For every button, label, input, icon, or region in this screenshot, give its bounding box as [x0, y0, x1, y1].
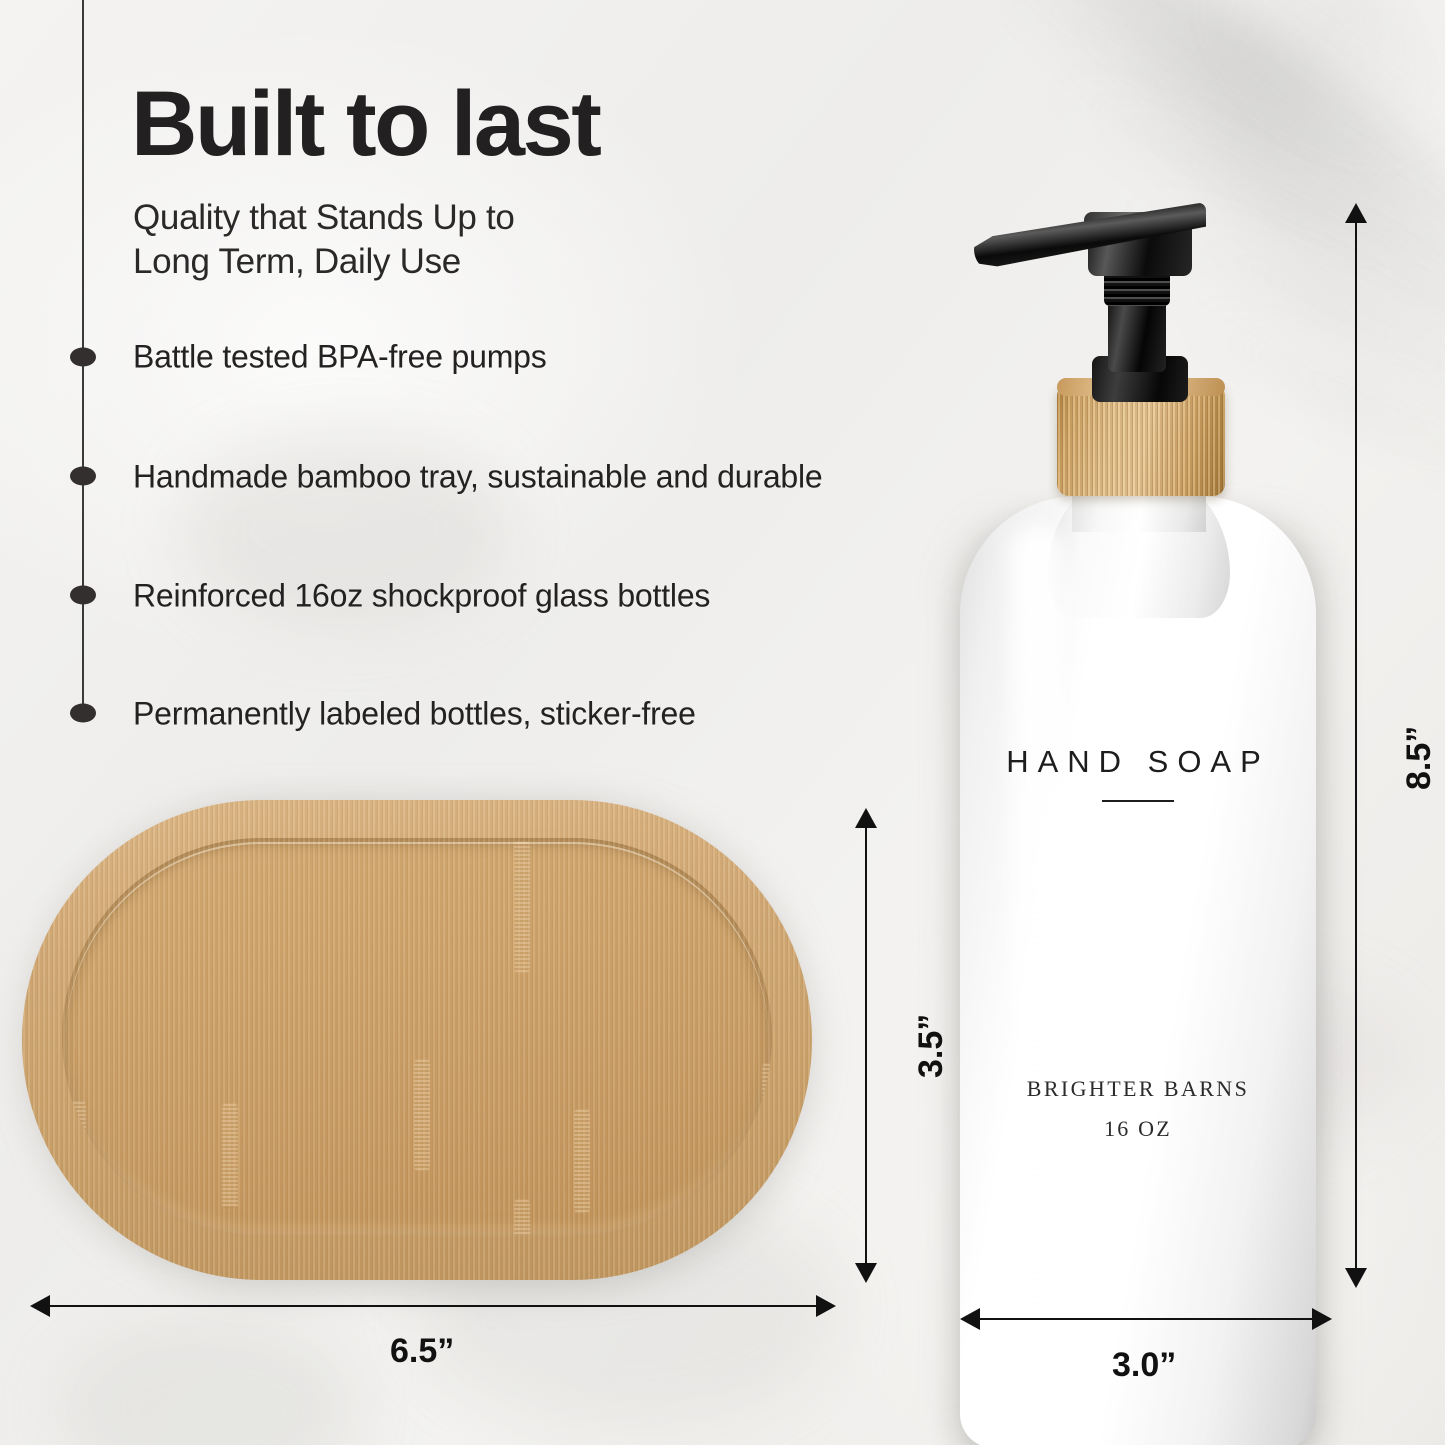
bottle-volume: 16 OZ [952, 1116, 1324, 1142]
dimension-arrowhead-right [1312, 1308, 1332, 1330]
bamboo-node-mark [762, 1064, 772, 1172]
dimension-arrowhead-left [30, 1295, 50, 1317]
tray-width-dimension-line [48, 1305, 818, 1307]
page-title: Built to last [131, 78, 599, 170]
bottle-height-dimension-label: 8.5” [1400, 726, 1439, 790]
dimension-arrowhead-left [960, 1308, 980, 1330]
feature-bullet-1: Battle tested BPA-free pumps [133, 339, 547, 376]
tray-inner-surface [62, 838, 772, 1236]
bamboo-node-mark [514, 842, 530, 972]
bottle-brand-name: BRIGHTER BARNS [952, 1076, 1324, 1102]
infographic-canvas: Built to last Quality that Stands Up to … [0, 0, 1445, 1445]
page-subtitle-line-2: Long Term, Daily Use [133, 240, 515, 284]
marble-texture-blotch [60, 1320, 360, 1445]
tray-height-dimension-line [865, 825, 867, 1265]
page-subtitle-line-1: Quality that Stands Up to [133, 196, 515, 240]
tray-width-dimension-label: 6.5” [390, 1332, 454, 1371]
tray-inner-grain-texture [62, 838, 772, 1236]
bamboo-node-mark [514, 1200, 530, 1236]
bamboo-node-mark [70, 1102, 86, 1198]
feature-bullet-4: Permanently labeled bottles, sticker-fre… [133, 696, 696, 733]
tray-height-dimension-label: 3.5” [912, 1014, 951, 1078]
bottle-highlight [1010, 526, 1064, 1386]
soap-bottle-image: HAND SOAP BRIGHTER BARNS 16 OZ [952, 196, 1324, 1258]
bottle-height-dimension-line [1355, 220, 1357, 1270]
bullet-dot-icon [70, 348, 96, 367]
bottle-label-rule [1102, 800, 1174, 802]
feature-bullet-3: Reinforced 16oz shockproof glass bottles [133, 578, 710, 615]
bamboo-node-mark [414, 1060, 430, 1170]
bullet-dot-icon [70, 467, 96, 486]
bottle-width-dimension-line [978, 1318, 1314, 1320]
bullet-dot-icon [70, 704, 96, 723]
bamboo-tray-image [22, 800, 812, 1280]
bottle-width-dimension-label: 3.0” [1112, 1346, 1176, 1385]
bottle-label-title: HAND SOAP [952, 744, 1324, 780]
palm-shadow-icon [1167, 0, 1445, 199]
dimension-arrowhead-down [1345, 1268, 1367, 1288]
dimension-arrowhead-down [855, 1263, 877, 1283]
bamboo-node-mark [222, 1104, 238, 1208]
bamboo-node-mark [574, 1110, 590, 1212]
feature-bullet-2: Handmade bamboo tray, sustainable and du… [133, 459, 823, 496]
page-subtitle: Quality that Stands Up to Long Term, Dai… [133, 196, 515, 284]
dimension-arrowhead-right [816, 1295, 836, 1317]
bullet-dot-icon [70, 586, 96, 605]
